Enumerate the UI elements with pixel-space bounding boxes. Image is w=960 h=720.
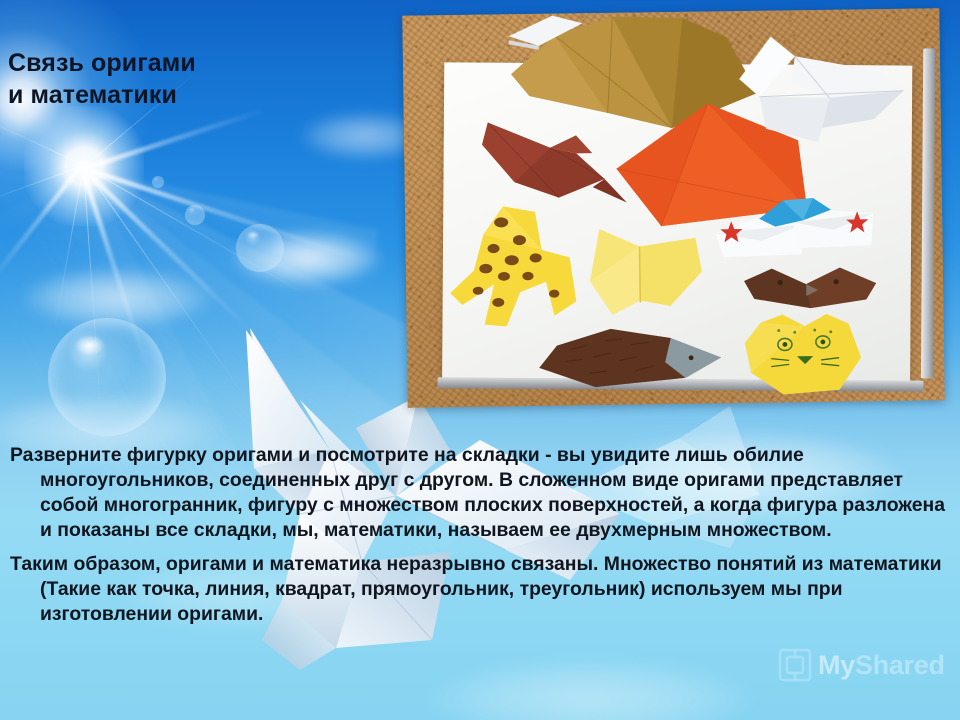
sun-ray xyxy=(84,107,266,170)
origami-figure-yellow-cat-face xyxy=(743,313,868,397)
slide-title-line-2: и математики xyxy=(8,80,338,112)
cloud xyxy=(22,268,212,328)
light-beam xyxy=(77,168,380,273)
origami-figure-blue-bird xyxy=(757,196,835,231)
sun-glow xyxy=(0,0,172,250)
sun-icon xyxy=(24,106,144,226)
bubble xyxy=(48,318,166,436)
slide-body-text: Разверните фигурку оригами и посмотрите … xyxy=(4,443,950,626)
bubble xyxy=(152,176,164,188)
slide-title-line-1: Связь оригами xyxy=(8,48,338,80)
myshared-watermark: MyShared xyxy=(778,648,945,682)
body-paragraph-2: Таким образом, оригами и математика нера… xyxy=(4,552,950,627)
presentation-slide: Связь оригами и математики Разверните фи… xyxy=(0,0,960,720)
bubble xyxy=(236,224,284,272)
board-frame-right xyxy=(921,48,935,378)
origami-figure-yellow-butterfly xyxy=(577,224,706,326)
sun-ray xyxy=(83,166,256,412)
myshared-text-shared: Shared xyxy=(855,650,945,680)
cloud xyxy=(232,230,382,286)
myshared-logo-icon xyxy=(778,648,812,682)
origami-figure-brown-hedgehog xyxy=(535,325,726,392)
sun-ray xyxy=(84,166,310,297)
origami-figure-brown-mouse xyxy=(480,109,631,211)
sun-ray xyxy=(0,110,84,166)
sun-ray xyxy=(79,166,149,367)
origami-figure-brown-dog-head xyxy=(740,263,881,315)
myshared-text-my: My xyxy=(818,650,855,680)
body-paragraph-1: Разверните фигурку оригами и посмотрите … xyxy=(4,443,950,543)
myshared-wordmark: MyShared xyxy=(818,652,945,679)
sun-ray xyxy=(0,165,84,207)
bubble xyxy=(185,205,205,225)
origami-photo xyxy=(402,8,944,407)
slide-title: Связь оригами и математики xyxy=(8,48,338,111)
origami-figure-white-sheets xyxy=(508,15,588,50)
origami-figure-white-crane xyxy=(733,35,910,153)
origami-figure-yellow-giraffe xyxy=(449,205,581,339)
sun-ray xyxy=(53,166,84,334)
sun-ray xyxy=(81,166,250,329)
sun-ray xyxy=(0,163,84,284)
cloud xyxy=(430,660,750,720)
sun-ray xyxy=(82,166,369,263)
sun-ray xyxy=(83,166,101,415)
